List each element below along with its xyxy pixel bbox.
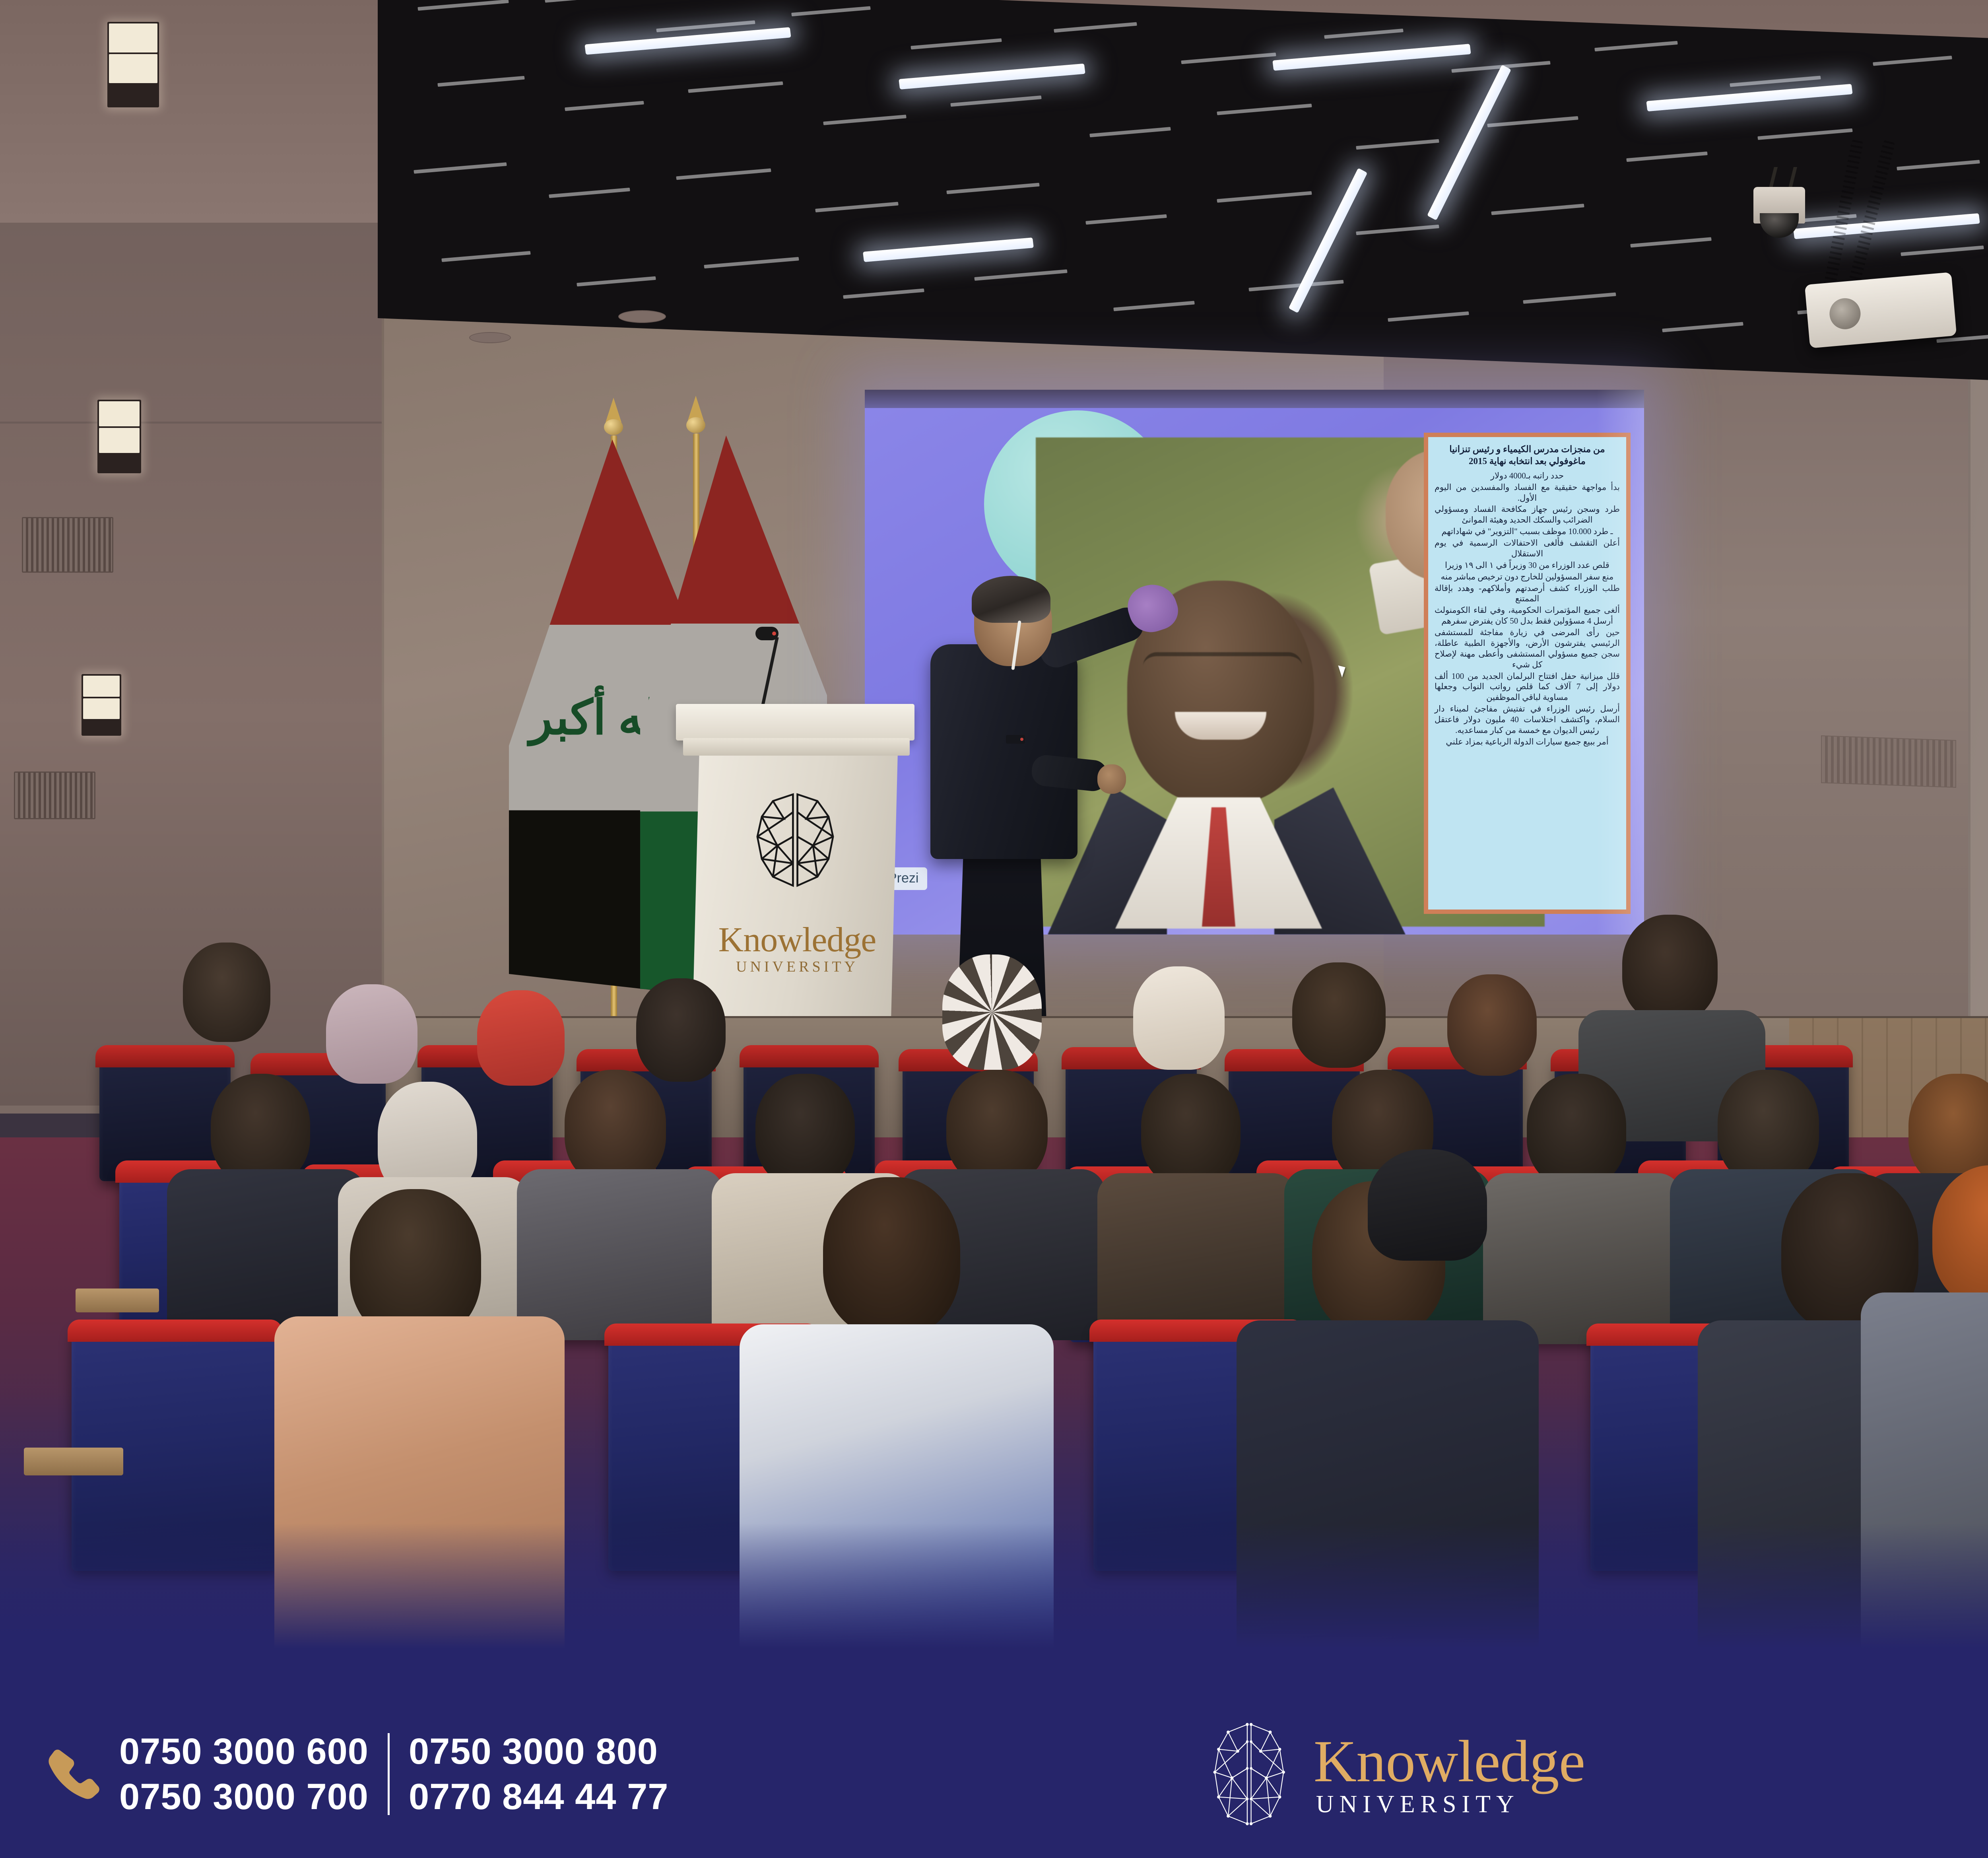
- speaker-lower-hand: [1097, 764, 1126, 794]
- screen-top-bar: [865, 390, 1644, 408]
- footer-contact-block: 0750 3000 600 0750 3000 700 0750 3000 80…: [44, 1733, 668, 1815]
- speaker-suit-jacket: [930, 644, 1077, 859]
- speaker-hair: [972, 576, 1050, 623]
- slide-text-line: قلص عدد الوزراء من 30 وزيراً في ١ الى ١٩…: [1435, 560, 1620, 571]
- wall-light-fixture: [97, 400, 141, 473]
- phone-handset-icon: [44, 1744, 103, 1804]
- phone-numbers: 0750 3000 600 0750 3000 700 0750 3000 80…: [119, 1733, 668, 1815]
- flagpole-finial: [602, 398, 625, 441]
- footer-bar: 0750 3000 600 0750 3000 700 0750 3000 80…: [0, 1690, 1988, 1858]
- flagpole-finial: [685, 396, 707, 439]
- screen-edge-highlight: [1596, 390, 1644, 935]
- podium-top-surface: [676, 704, 914, 740]
- slide-text-line: أرسل رئيس الوزراء في تفتيش مفاجئ لميناء …: [1435, 704, 1620, 736]
- footer-brand-block: Knowledge UNIVERSITY: [1202, 1720, 1585, 1828]
- slide-text-line: أمر ببيع جميع سيارات الدولة الرباعية بمز…: [1435, 737, 1620, 747]
- phone-number[interactable]: 0750 3000 800: [409, 1733, 669, 1770]
- footer-brand-text: Knowledge UNIVERSITY: [1314, 1732, 1585, 1817]
- speaker-lapel-mic: [1006, 735, 1025, 744]
- slide-text-line: أعلن التقشف فألغى الاحتفالات الرسمية في …: [1435, 538, 1620, 559]
- brand-name-secondary: UNIVERSITY: [1316, 1792, 1585, 1817]
- brand-name-primary: Knowledge: [1314, 1732, 1585, 1791]
- slide-text-title: من منجزات مدرس الكيمياء و رئيس تنزانيا م…: [1435, 443, 1620, 467]
- ceiling-speaker: [469, 332, 511, 343]
- podium-brain-logo: [738, 785, 853, 897]
- wall-seam: [0, 422, 382, 424]
- slide-text-line: ـ طرد 10.000 موظف بسبب "التزوير" في شهاد…: [1435, 526, 1620, 537]
- wall-light-fixture: [82, 674, 121, 736]
- microphone-head: [755, 627, 779, 640]
- wall-air-vent: [14, 772, 95, 819]
- phone-column-2: 0750 3000 800 0770 844 44 77: [388, 1733, 669, 1815]
- slide-text-line: طرد وسجن رئيس جهاز مكافحة الفساد ومسؤولي…: [1435, 504, 1620, 525]
- wall-light-fixture: [107, 22, 159, 107]
- slide-text-line: قلل ميزانية حفل افتتاح البرلمان الجديد م…: [1435, 671, 1620, 703]
- phone-number[interactable]: 0750 3000 600: [119, 1733, 369, 1770]
- ceiling-vent: [1821, 735, 1956, 788]
- seat-armrest: [76, 1289, 159, 1312]
- phone-number[interactable]: 0770 844 44 77: [409, 1778, 669, 1815]
- phone-number[interactable]: 0750 3000 700: [119, 1778, 369, 1815]
- projector-lens: [1828, 297, 1862, 331]
- ceiling-projector: [1805, 272, 1957, 348]
- podium-lip: [683, 738, 910, 756]
- screenshot-root: الله أكبر من منجزات مدرس الكيمي: [0, 0, 1988, 1858]
- dome-camera: [1753, 187, 1805, 224]
- event-photo: الله أكبر من منجزات مدرس الكيمي: [0, 0, 1988, 1690]
- slide-text-line: بدأ مواجهة حقيقية مع الفساد والمفسدين من…: [1435, 482, 1620, 503]
- brain-wireframe-logo: [1202, 1720, 1297, 1828]
- slide-text-line: منع سفر المسؤولين للخارج دون ترخيص مباشر…: [1435, 571, 1620, 582]
- slide-text-line: طلب الوزراء كشف أرصدتهم وأملاكهم- وهدد ب…: [1435, 583, 1620, 604]
- slide-text-line: حين رأى المرضى في زيارة مفاجئة للمستشفى …: [1435, 627, 1620, 670]
- slide-subject-smile: [1175, 712, 1266, 740]
- photo-bottom-fade: [0, 1523, 1988, 1690]
- ceiling-speaker: [618, 310, 666, 323]
- slide-text-line: ألغى جميع المؤتمرات الحكومية، وفي لقاء ا…: [1435, 605, 1620, 626]
- podium-brand-secondary: UNIVERSITY: [718, 959, 877, 974]
- podium-brand-primary: Knowledge: [718, 921, 876, 959]
- slide-text-line: حدد راتبه بـ4000 دولار: [1435, 470, 1620, 481]
- right-wall-panel: [1968, 278, 1988, 1074]
- wall-seam: [382, 223, 384, 1098]
- podium-brand: Knowledge UNIVERSITY: [718, 923, 877, 974]
- slide-subject-glasses: [1143, 652, 1302, 680]
- seat-armrest: [24, 1448, 123, 1475]
- wall-air-vent: [22, 517, 113, 573]
- wall-seam: [1968, 278, 1971, 1074]
- phone-column-1: 0750 3000 600 0750 3000 700: [119, 1733, 388, 1815]
